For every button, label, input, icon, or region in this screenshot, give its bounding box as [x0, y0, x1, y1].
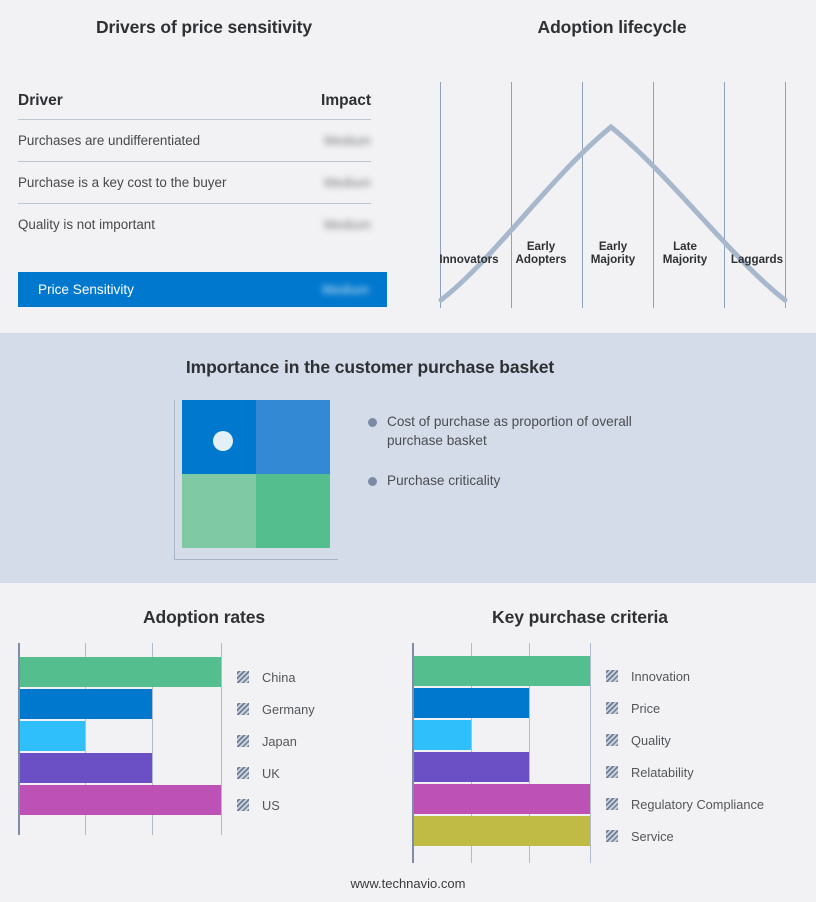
table-row: Purchases are undifferentiated Medium — [18, 120, 371, 162]
legend-label: Japan — [262, 734, 297, 749]
legend-item: Regulatory Compliance — [606, 788, 764, 820]
key-purchase-criteria-title: Key purchase criteria — [400, 607, 760, 628]
purchase-basket-panel: Importance in the customer purchase bask… — [0, 333, 816, 583]
impact-value: Medium — [324, 133, 371, 148]
adoption-lifecycle-stage-labels: Innovators Early Adopters Early Majority… — [433, 226, 793, 268]
legend-swatch-icon — [606, 702, 618, 714]
purchase-basket-matrix-wrap — [182, 400, 330, 548]
bar — [414, 720, 471, 750]
gridline — [590, 643, 591, 863]
drivers-title: Drivers of price sensitivity — [0, 17, 408, 38]
legend-label: Innovation — [631, 669, 690, 684]
adoption-lifecycle-panel: Adoption lifecycle Innovators Early Adop… — [408, 0, 816, 333]
adoption-lifecycle-title: Adoption lifecycle — [408, 17, 816, 38]
bullet-icon — [368, 477, 377, 486]
stage-label-late-majority: Late Majority — [649, 226, 721, 268]
legend-item: Purchase criticality — [368, 472, 668, 491]
legend-item: UK — [237, 757, 315, 789]
price-sensitivity-summary-row: Price Sensitivity Medium — [18, 272, 387, 307]
price-sensitivity-label: Price Sensitivity — [38, 282, 134, 297]
bell-curve-path — [441, 127, 785, 300]
bell-curve-svg — [433, 82, 793, 308]
driver-label: Quality is not important — [18, 217, 155, 232]
footer-url: www.technavio.com — [0, 876, 816, 891]
matrix-quadrant-top-right — [256, 400, 330, 474]
legend-item: Quality — [606, 724, 764, 756]
bar — [20, 753, 152, 783]
bar — [414, 656, 590, 686]
stage-label-early-majority: Early Majority — [577, 226, 649, 268]
matrix-quadrant-bottom-left — [182, 474, 256, 548]
adoption-lifecycle-chart — [433, 82, 793, 308]
legend-label: Regulatory Compliance — [631, 797, 764, 812]
legend-item: Innovation — [606, 660, 764, 692]
legend-swatch-icon — [606, 766, 618, 778]
bar — [20, 689, 152, 719]
position-marker-dot — [213, 431, 233, 451]
legend-item: Relatability — [606, 756, 764, 788]
stage-label-early-adopters: Early Adopters — [505, 226, 577, 268]
legend-item: US — [237, 789, 315, 821]
table-header-row: Driver Impact — [18, 92, 371, 120]
matrix-x-axis — [174, 559, 338, 560]
bar — [414, 816, 590, 846]
legend-item: Cost of purchase as proportion of overal… — [368, 413, 668, 450]
adoption-rates-chart: ChinaGermanyJapanUKUS — [18, 643, 398, 858]
table-row: Purchase is a key cost to the buyer Medi… — [18, 162, 371, 204]
adoption-rates-panel: Adoption rates ChinaGermanyJapanUKUS — [0, 583, 408, 902]
legend-label: Purchase criticality — [387, 472, 500, 491]
impact-value: Medium — [324, 217, 371, 232]
chart-legend: ChinaGermanyJapanUKUS — [237, 661, 315, 821]
gridline — [221, 643, 222, 835]
driver-label: Purchases are undifferentiated — [18, 133, 200, 148]
legend-swatch-icon — [606, 670, 618, 682]
legend-label: China — [262, 670, 295, 685]
chart-legend: InnovationPriceQualityRelatabilityRegula… — [606, 660, 764, 852]
stage-label-laggards: Laggards — [721, 226, 793, 268]
driver-label: Purchase is a key cost to the buyer — [18, 175, 226, 190]
key-purchase-criteria-chart: InnovationPriceQualityRelatabilityRegula… — [412, 643, 812, 873]
legend-label: Service — [631, 829, 674, 844]
price-sensitivity-impact: Medium — [322, 282, 369, 297]
legend-label: US — [262, 798, 280, 813]
bar — [20, 721, 85, 751]
legend-label: Cost of purchase as proportion of overal… — [387, 413, 668, 450]
drivers-table: Driver Impact Purchases are undifferenti… — [18, 92, 371, 245]
plot-area — [412, 643, 590, 863]
table-row: Quality is not important Medium — [18, 204, 371, 245]
drivers-panel: Drivers of price sensitivity Driver Impa… — [0, 0, 408, 333]
stage-divider-lines — [441, 82, 786, 308]
legend-label: Price — [631, 701, 660, 716]
legend-label: Germany — [262, 702, 315, 717]
legend-swatch-icon — [606, 734, 618, 746]
legend-label: UK — [262, 766, 280, 781]
legend-swatch-icon — [606, 830, 618, 842]
key-purchase-criteria-panel: Key purchase criteria InnovationPriceQua… — [400, 583, 816, 902]
legend-swatch-icon — [237, 735, 249, 747]
stage-label-innovators: Innovators — [433, 226, 505, 268]
legend-swatch-icon — [237, 799, 249, 811]
purchase-basket-title: Importance in the customer purchase bask… — [0, 357, 740, 378]
matrix-y-axis — [174, 400, 175, 560]
legend-label: Quality — [631, 733, 671, 748]
bullet-icon — [368, 418, 377, 427]
legend-label: Relatability — [631, 765, 694, 780]
matrix-quadrant-bottom-right — [256, 474, 330, 548]
impact-value: Medium — [324, 175, 371, 190]
legend-item: Service — [606, 820, 764, 852]
bar — [414, 688, 529, 718]
legend-swatch-icon — [237, 767, 249, 779]
legend-item: China — [237, 661, 315, 693]
bar — [20, 785, 221, 815]
legend-item: Japan — [237, 725, 315, 757]
purchase-basket-legend: Cost of purchase as proportion of overal… — [368, 413, 668, 513]
column-header-driver: Driver — [18, 92, 63, 110]
column-header-impact: Impact — [321, 92, 371, 110]
legend-swatch-icon — [237, 671, 249, 683]
bar — [20, 657, 221, 687]
legend-item: Germany — [237, 693, 315, 725]
plot-area — [18, 643, 221, 835]
legend-swatch-icon — [606, 798, 618, 810]
bar — [414, 784, 590, 814]
legend-item: Price — [606, 692, 764, 724]
legend-swatch-icon — [237, 703, 249, 715]
adoption-rates-title: Adoption rates — [0, 607, 408, 628]
purchase-basket-matrix — [182, 400, 330, 548]
bar — [414, 752, 529, 782]
